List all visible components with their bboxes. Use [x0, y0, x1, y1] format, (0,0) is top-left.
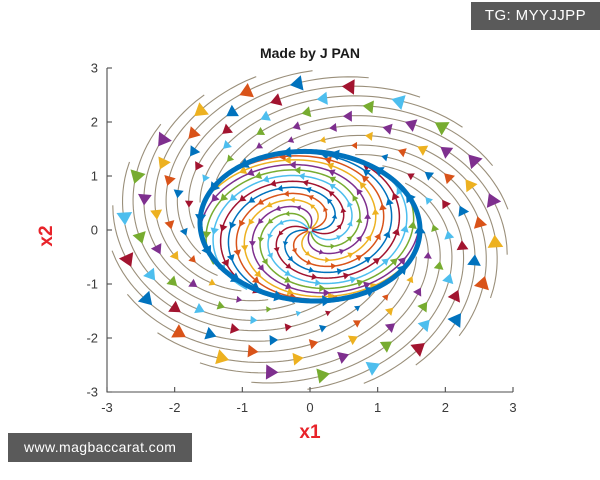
y-tick-label: 1	[91, 169, 98, 184]
y-tick-label: 0	[91, 223, 98, 238]
x-tick-label: 0	[306, 400, 313, 415]
x-tick-label: -2	[169, 400, 181, 415]
y-tick-label: -1	[86, 277, 98, 292]
y-tick-label: -2	[86, 331, 98, 346]
y-axis-label: x2	[36, 225, 57, 246]
y-tick-label: 2	[91, 115, 98, 130]
site-watermark-badge: www.magbaccarat.com	[8, 433, 192, 462]
x-tick-label: 2	[442, 400, 449, 415]
y-tick-label: -3	[86, 385, 98, 400]
x-tick-label: -1	[237, 400, 249, 415]
site-badge-text: www.magbaccarat.com	[24, 439, 176, 455]
x-axis-label: x1	[299, 422, 321, 443]
tg-badge-text: TG: MYYJJPP	[485, 7, 586, 24]
x-tick-label: 3	[509, 400, 516, 415]
tg-badge: TG: MYYJJPP	[471, 2, 600, 30]
x-tick-label: 1	[374, 400, 381, 415]
x-tick-label: -3	[101, 400, 113, 415]
phase-portrait-figure: Made by J PAN -3-2-101233210-1-2-3 x1 x2	[0, 0, 600, 480]
y-tick-label: 3	[91, 61, 98, 76]
plot-title: Made by J PAN	[260, 45, 360, 61]
